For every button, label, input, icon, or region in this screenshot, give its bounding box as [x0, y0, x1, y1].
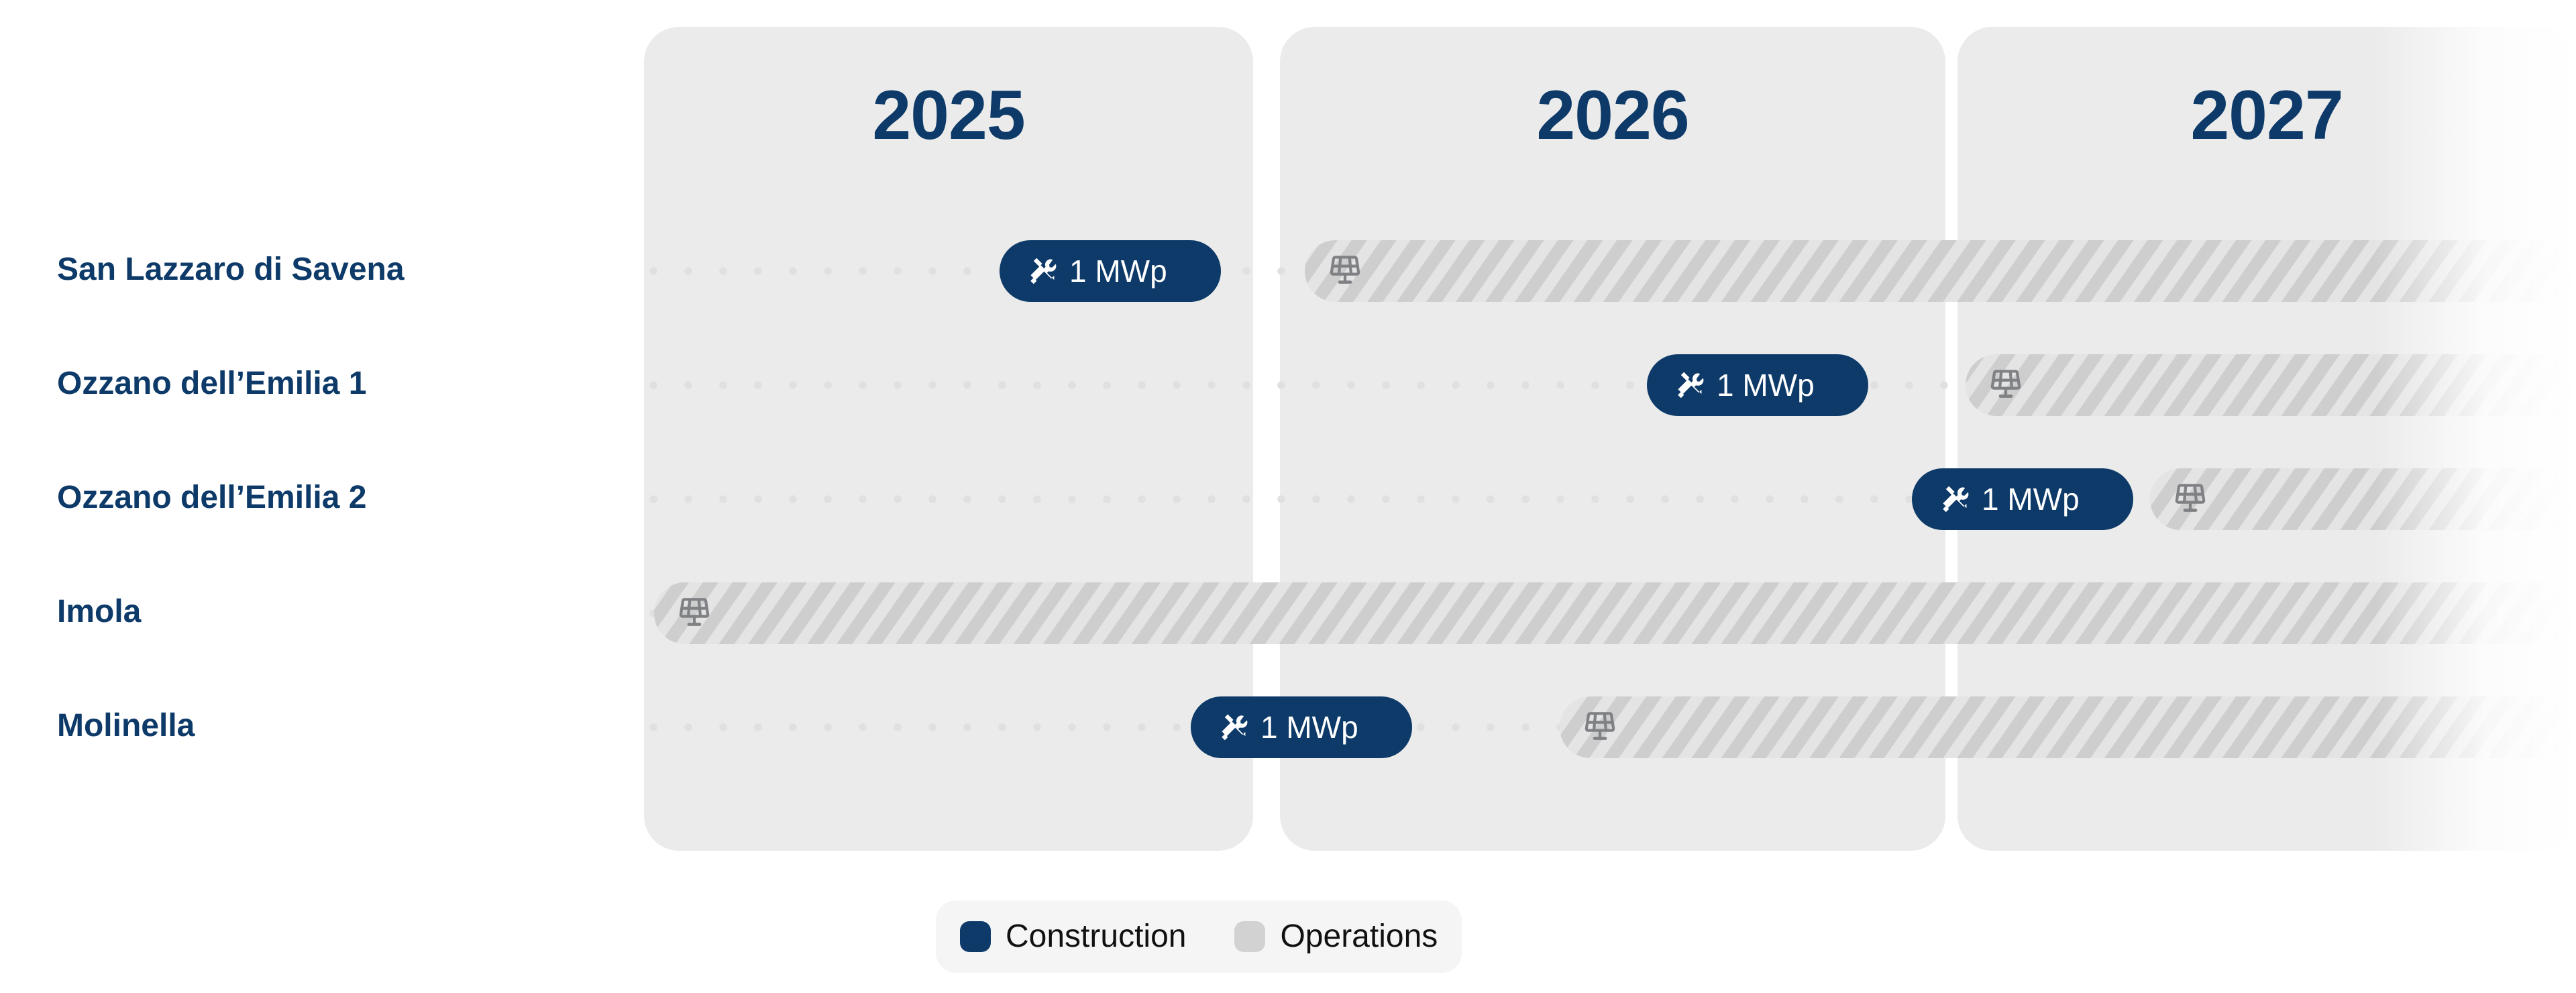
bar-operations-molinella[interactable]	[1560, 696, 2576, 758]
solar-panel-icon	[2170, 479, 2210, 519]
solar-panel-icon	[1580, 707, 1620, 747]
timeline-row: 1 MWp	[624, 233, 2576, 309]
legend-label: Operations	[1280, 921, 1438, 953]
timeline-chart: 202520262027 San Lazzaro di SavenaOzzano…	[0, 0, 2576, 993]
bar-operations-ozzano-dell-emilia-1[interactable]	[1966, 354, 2576, 416]
bar-construction-ozzano-dell-emilia-1[interactable]: 1 MWp	[1647, 354, 1868, 416]
bar-construction-ozzano-dell-emilia-2[interactable]: 1 MWp	[1912, 468, 2133, 530]
legend-item-construction[interactable]: Construction	[960, 921, 1186, 953]
capacity-label: 1 MWp	[1069, 256, 1167, 286]
capacity-label: 1 MWp	[1982, 484, 2080, 515]
legend-swatch-operations	[1234, 921, 1265, 952]
legend-swatch-construction	[960, 921, 991, 952]
chart-legend: ConstructionOperations	[936, 900, 1462, 973]
solar-panel-icon	[674, 593, 714, 633]
timeline-row	[624, 576, 2576, 651]
bar-construction-san-lazzaro-di-savena[interactable]: 1 MWp	[1000, 240, 1221, 302]
bar-operations-san-lazzaro-di-savena[interactable]	[1305, 240, 2576, 302]
legend-item-operations[interactable]: Operations	[1234, 921, 1438, 953]
timeline-row: 1 MWp	[624, 348, 2576, 423]
bar-operations-ozzano-dell-emilia-2[interactable]	[2150, 468, 2576, 530]
bar-operations-imola[interactable]	[654, 582, 2576, 644]
timeline-row: 1 MWp	[624, 462, 2576, 537]
solar-panel-icon	[1325, 251, 1365, 291]
tools-icon	[1672, 369, 1705, 401]
tools-icon	[1216, 711, 1248, 743]
bar-construction-molinella[interactable]: 1 MWp	[1191, 696, 1412, 758]
timeline-row: 1 MWp	[624, 690, 2576, 765]
tools-icon	[1937, 483, 1970, 515]
legend-label: Construction	[1006, 921, 1186, 953]
capacity-label: 1 MWp	[1260, 712, 1358, 743]
capacity-label: 1 MWp	[1717, 370, 1815, 401]
solar-panel-icon	[1986, 365, 2026, 405]
tools-icon	[1025, 255, 1057, 287]
timeline-rows: 1 MWp1 MWp1 MWp1 MWp	[0, 0, 2576, 859]
